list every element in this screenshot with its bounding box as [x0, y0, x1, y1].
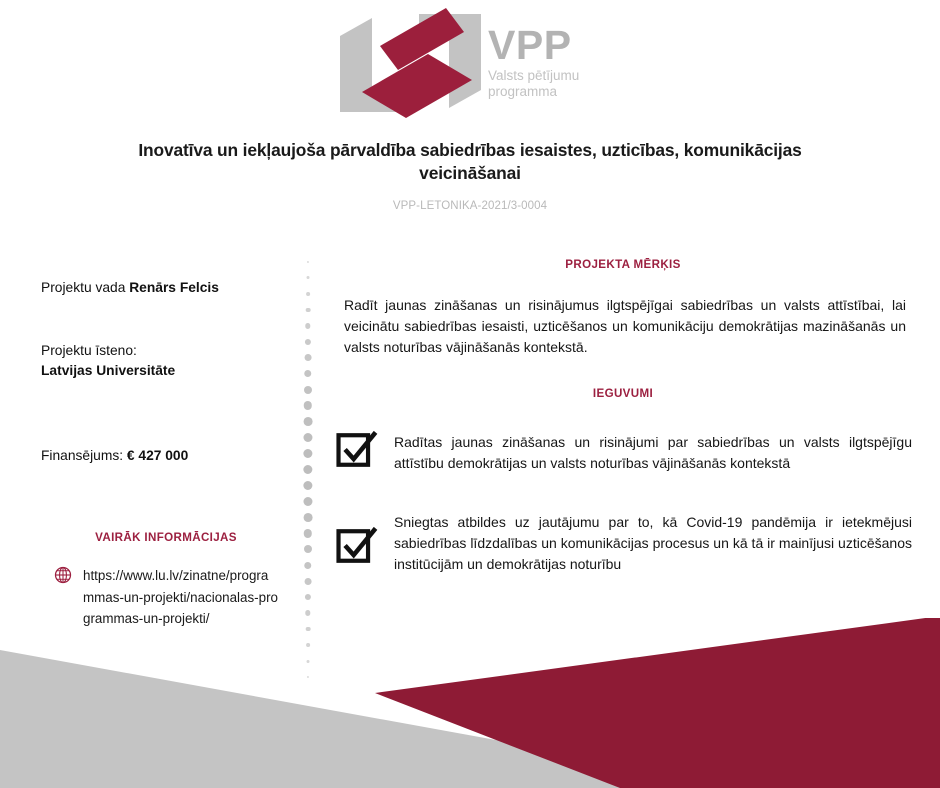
- left-info-column: Projektu vada Renārs Felcis Projektu īst…: [41, 278, 291, 298]
- more-info-heading: VAIRĀK INFORMĀCIJAS: [41, 531, 291, 544]
- project-funding: Finansējums: € 427 000: [41, 446, 188, 466]
- divider-dot: [303, 481, 312, 490]
- checkbox-checked-icon: [336, 526, 378, 566]
- divider-dot: [304, 386, 312, 394]
- vpp-logo: VPP Valsts pētījumu programma: [338, 8, 608, 120]
- project-code: VPP-LETONIKA-2021/3-0004: [100, 200, 840, 212]
- vpp-n-monogram-icon: [338, 8, 483, 118]
- vpp-subline-2: programma: [488, 84, 557, 99]
- divider-dot: [303, 465, 312, 474]
- divider-dot: [306, 308, 311, 313]
- divider-dot: [303, 449, 312, 458]
- divider-dot: [305, 610, 310, 615]
- project-lead-label: Projektu vada: [41, 280, 129, 295]
- project-funding-label: Finansējums:: [41, 448, 127, 463]
- goal-heading: PROJEKTA MĒRĶIS: [334, 258, 912, 271]
- red-arrow-wedge: [375, 618, 940, 788]
- page-title: Inovatīva un iekļaujoša pārvaldība sabie…: [100, 139, 840, 185]
- divider-dot: [304, 545, 312, 553]
- vpp-wordmark-subline: Valsts pētījumu programma: [488, 68, 610, 100]
- divider-dot: [303, 497, 312, 506]
- vpp-subline-1: Valsts pētījumu: [488, 68, 579, 83]
- divider-dot: [307, 261, 309, 263]
- vpp-wordmark-main: VPP: [488, 26, 610, 65]
- bottom-decoration: [0, 618, 940, 788]
- divider-dot: [304, 417, 313, 426]
- project-implementer-name: Latvijas Universitāte: [41, 361, 175, 381]
- benefit-item: Sniegtas atbildes uz jautājumu par to, k…: [334, 512, 912, 575]
- divider-dot: [306, 627, 311, 632]
- benefit-text: Radītas jaunas zināšanas un risinājumi p…: [394, 430, 912, 474]
- divider-dot: [303, 433, 312, 442]
- divider-dot: [304, 370, 311, 377]
- divider-dot: [307, 276, 310, 279]
- project-lead-name: Renārs Felcis: [129, 280, 219, 295]
- benefit-text: Sniegtas atbildes uz jautājumu par to, k…: [394, 512, 912, 575]
- divider-dot: [306, 292, 310, 296]
- goal-text: Radīt jaunas zināšanas un risinājumus il…: [334, 295, 912, 358]
- project-lead: Projektu vada Renārs Felcis: [41, 278, 291, 298]
- project-implementer-name-text: Latvijas Universitāte: [41, 363, 175, 378]
- project-poster: VPP Valsts pētījumu programma Inovatīva …: [0, 0, 940, 788]
- more-info-link-row[interactable]: https://www.lu.lv/zinatne/programmas-un-…: [54, 565, 294, 630]
- benefits-heading: IEGUVUMI: [334, 387, 912, 400]
- divider-dot: [306, 643, 310, 647]
- benefit-item: Radītas jaunas zināšanas un risinājumi p…: [334, 430, 912, 474]
- divider-dot: [307, 676, 309, 678]
- divider-dot: [305, 578, 312, 585]
- divider-dot: [305, 339, 311, 345]
- project-implementer-label: Projektu īsteno:: [41, 341, 175, 361]
- divider-dot: [305, 594, 311, 600]
- project-implementer: Projektu īsteno: Latvijas Universitāte: [41, 341, 175, 380]
- divider-dot: [307, 660, 310, 663]
- more-info-url[interactable]: https://www.lu.lv/zinatne/programmas-un-…: [83, 565, 279, 630]
- divider-dot: [305, 354, 312, 361]
- globe-icon: [54, 566, 72, 584]
- divider-dot: [304, 529, 312, 537]
- vpp-wordmark: VPP Valsts pētījumu programma: [488, 26, 610, 100]
- project-funding-value: € 427 000: [127, 448, 188, 463]
- right-content-column: PROJEKTA MĒRĶIS Radīt jaunas zināšanas u…: [334, 258, 912, 575]
- divider-dot: [304, 513, 313, 522]
- checkbox-checked-icon: [336, 430, 378, 470]
- divider-dot: [305, 323, 310, 328]
- divider-dot: [304, 562, 311, 569]
- gray-angled-band: [0, 650, 760, 788]
- divider-dot: [304, 401, 312, 409]
- dotted-divider: [298, 262, 318, 677]
